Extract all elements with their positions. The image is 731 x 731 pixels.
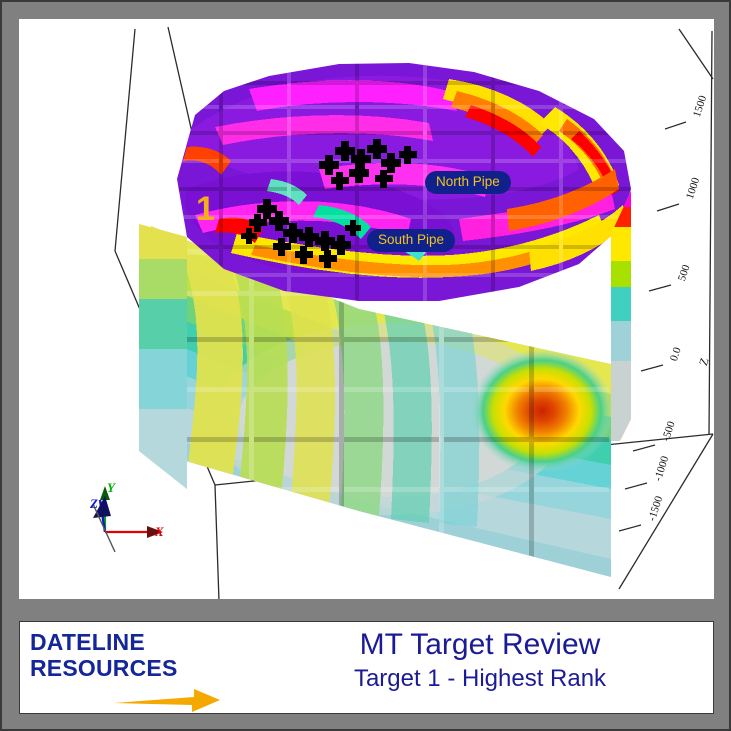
target-number-label: 1 <box>196 192 215 226</box>
company-logo: DATELINE RESOURCES <box>30 629 240 709</box>
footer-bar: DATELINE RESOURCES MT Target Review Targ… <box>19 621 714 714</box>
logo-line-2: RESOURCES <box>30 655 240 681</box>
slide-frame: 1 North Pipe South Pipe 1500 1000 500 0.… <box>0 0 731 731</box>
axis-label-y: Y <box>107 480 115 496</box>
title-block: MT Target Review Target 1 - Highest Rank <box>255 627 705 693</box>
plot-area: 1 North Pipe South Pipe 1500 1000 500 0.… <box>19 19 714 599</box>
axis-label-x: X <box>155 524 164 540</box>
page-subtitle: Target 1 - Highest Rank <box>255 664 705 693</box>
axis-label-z: Z <box>90 496 98 512</box>
label-north-pipe: North Pipe <box>425 171 511 194</box>
orientation-axis-widget: X Y Z <box>67 474 197 574</box>
page-title: MT Target Review <box>255 627 705 664</box>
logo-arrow-icon <box>112 681 232 713</box>
label-south-pipe: South Pipe <box>367 229 455 252</box>
logo-line-1: DATELINE <box>30 629 240 655</box>
